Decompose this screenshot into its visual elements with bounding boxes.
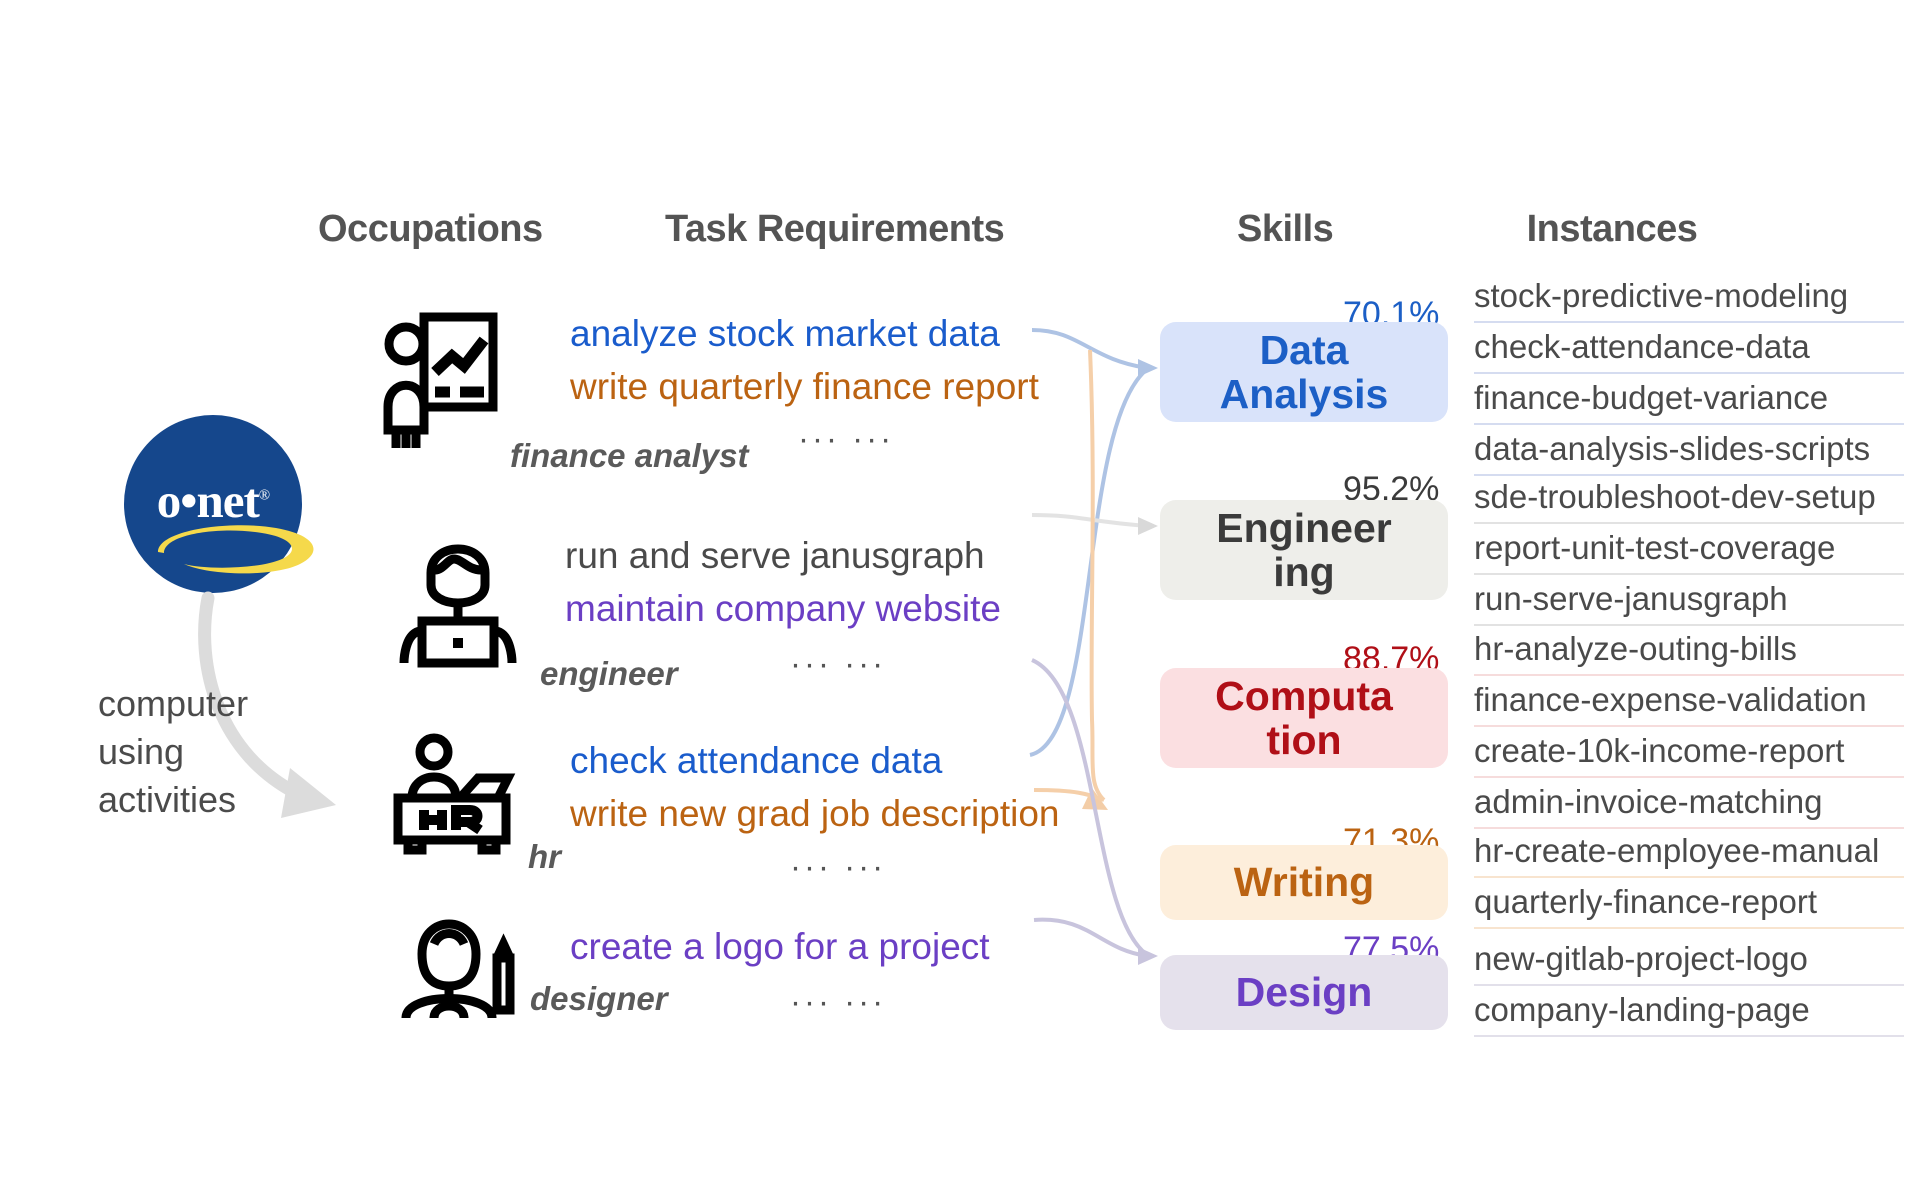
occupation-label-designer: designer <box>530 980 668 1018</box>
list-item[interactable]: stock-predictive-modeling <box>1474 272 1904 323</box>
task-ellipsis-designer: ··· ··· <box>790 983 886 1021</box>
list-item[interactable]: run-serve-janusgraph <box>1474 575 1904 626</box>
skill-box-engineering[interactable]: Engineering <box>1160 500 1448 600</box>
person-laptop-icon <box>398 525 518 663</box>
occupation-label-hr: hr <box>528 838 561 876</box>
column-header-task-requirements: Task Requirements <box>665 208 1004 251</box>
list-item[interactable]: data-analysis-slides-scripts <box>1474 425 1904 476</box>
task-write-new-grad-job-description: write new grad job description <box>570 795 1059 832</box>
designer-pencil-icon <box>398 900 518 1022</box>
task-ellipsis-finance-analyst: ··· ··· <box>798 420 894 458</box>
skill-label-engineering: Engineering <box>1216 506 1391 595</box>
skill-box-data-analysis[interactable]: DataAnalysis <box>1160 322 1448 422</box>
hr-desk-icon <box>390 730 514 854</box>
skill-label-computation: Computation <box>1215 674 1393 763</box>
onet-logo: o•net® <box>112 410 322 600</box>
task-ellipsis-engineer: ··· ··· <box>790 645 886 683</box>
instance-group-data-analysis: stock-predictive-modeling check-attendan… <box>1474 272 1904 476</box>
list-item[interactable]: admin-invoice-matching <box>1474 778 1904 829</box>
skill-box-computation[interactable]: Computation <box>1160 668 1448 768</box>
task-run-and-serve-janusgraph: run and serve janusgraph <box>565 537 985 574</box>
list-item[interactable]: quarterly-finance-report <box>1474 878 1904 929</box>
column-header-instances: Instances <box>1527 208 1698 251</box>
skill-label-writing: Writing <box>1234 860 1374 904</box>
column-header-occupations: Occupations <box>318 208 543 251</box>
skill-label-data-analysis: DataAnalysis <box>1220 328 1389 417</box>
task-create-a-logo-for-a-project: create a logo for a project <box>570 928 990 965</box>
instance-group-computation: hr-analyze-outing-bills finance-expense-… <box>1474 625 1904 829</box>
skill-box-design[interactable]: Design <box>1160 955 1448 1030</box>
list-item[interactable]: hr-create-employee-manual <box>1474 827 1904 878</box>
column-header-skills: Skills <box>1237 208 1333 251</box>
skill-box-writing[interactable]: Writing <box>1160 845 1448 920</box>
onet-wordmark: o•net® <box>124 476 302 525</box>
instance-group-writing: hr-create-employee-manual quarterly-fina… <box>1474 827 1904 929</box>
task-ellipsis-hr: ··· ··· <box>790 848 886 886</box>
presenter-chart-icon <box>380 312 498 450</box>
list-item[interactable]: check-attendance-data <box>1474 323 1904 374</box>
task-analyze-stock-market-data: analyze stock market data <box>570 315 1000 352</box>
onet-logo-swoosh <box>150 522 322 576</box>
occupation-label-finance-analyst: finance analyst <box>510 437 748 475</box>
list-item[interactable]: hr-analyze-outing-bills <box>1474 625 1904 676</box>
list-item[interactable]: create-10k-income-report <box>1474 727 1904 778</box>
list-item[interactable]: sde-troubleshoot-dev-setup <box>1474 473 1904 524</box>
list-item[interactable]: finance-budget-variance <box>1474 374 1904 425</box>
list-item[interactable]: new-gitlab-project-logo <box>1474 935 1904 986</box>
list-item[interactable]: company-landing-page <box>1474 986 1904 1037</box>
skill-label-design: Design <box>1236 970 1373 1014</box>
list-item[interactable]: report-unit-test-coverage <box>1474 524 1904 575</box>
registered-mark-icon: ® <box>259 488 269 504</box>
task-write-quarterly-finance-report: write quarterly finance report <box>570 368 1039 405</box>
diagram-canvas: Occupations Task Requirements Skills Ins… <box>0 0 1920 1200</box>
task-maintain-company-website: maintain company website <box>565 590 1001 627</box>
instance-group-engineering: sde-troubleshoot-dev-setup report-unit-t… <box>1474 473 1904 626</box>
list-item[interactable]: finance-expense-validation <box>1474 676 1904 727</box>
task-check-attendance-data: check attendance data <box>570 742 942 779</box>
onet-star-icon: • <box>180 473 196 528</box>
onet-word-o: o <box>157 473 181 528</box>
onet-word-net: net <box>196 473 258 528</box>
edge-label-computer-using-activities: computer using activities <box>98 680 248 824</box>
instance-group-design: new-gitlab-project-logo company-landing-… <box>1474 935 1904 1037</box>
occupation-label-engineer: engineer <box>540 655 678 693</box>
